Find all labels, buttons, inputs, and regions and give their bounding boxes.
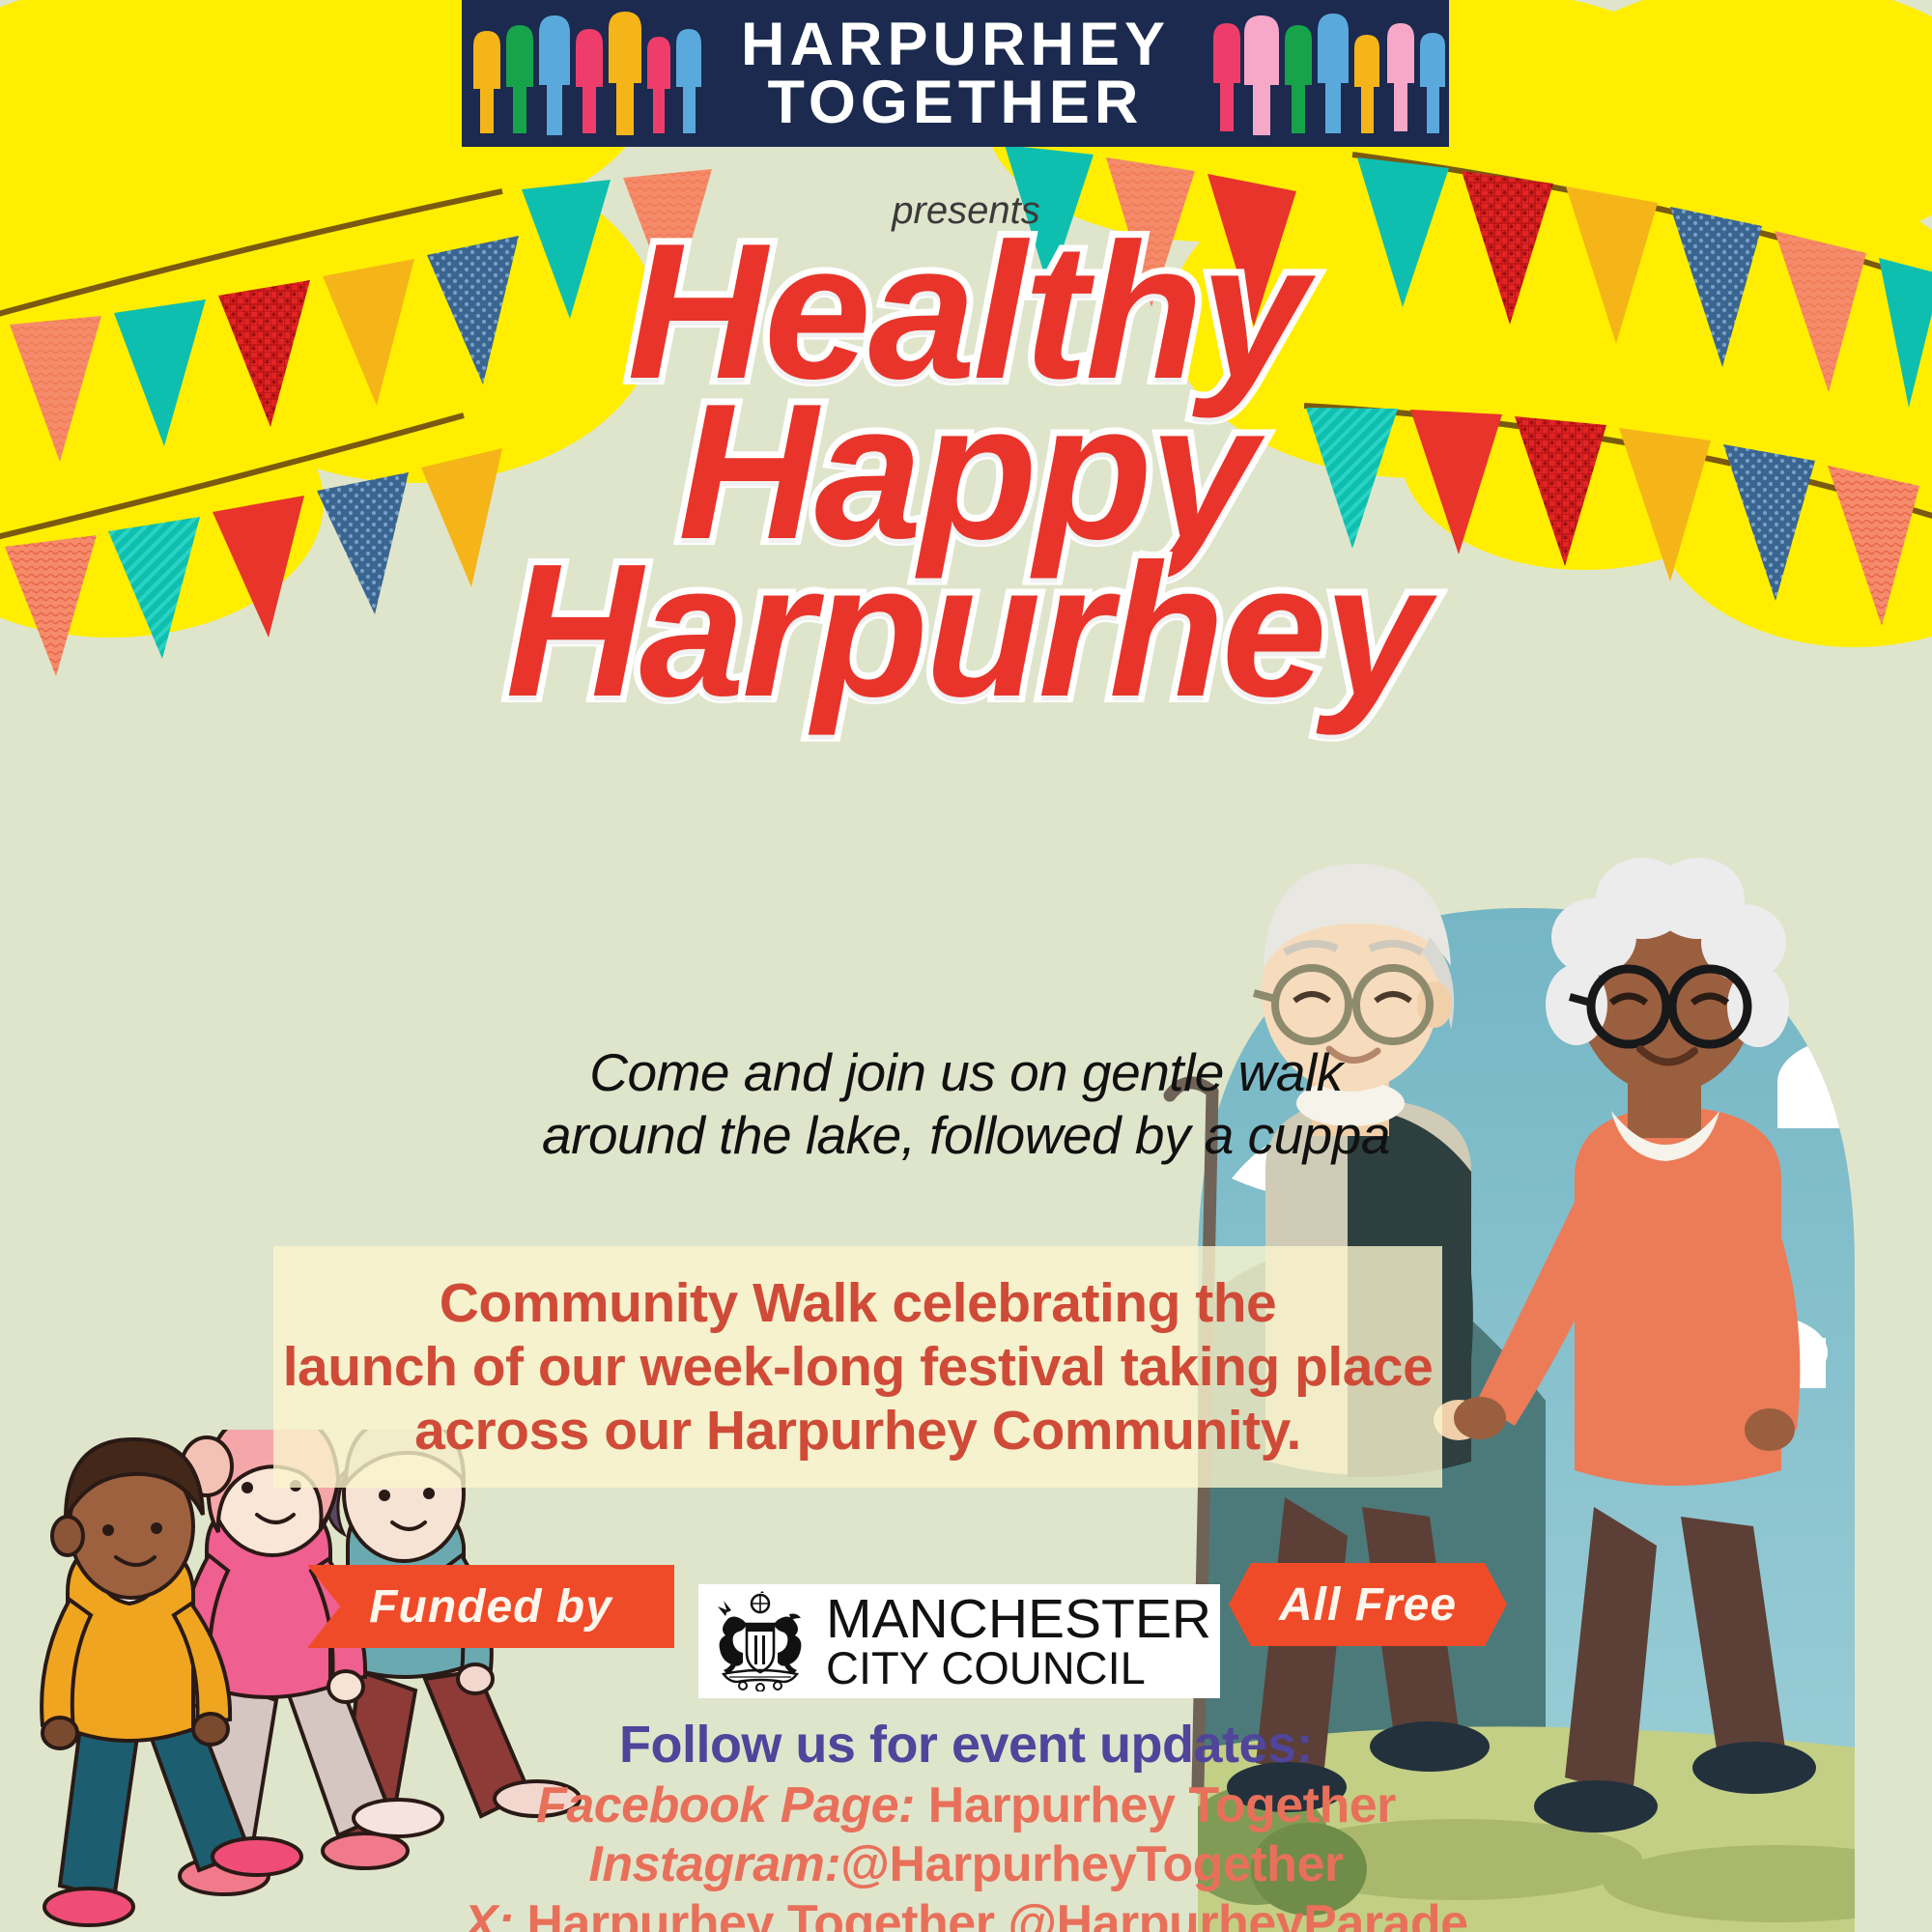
social-x[interactable]: X: Harpurhey Together @HarpurheyParade	[0, 1896, 1932, 1932]
logo-line-1: HARPURHEY	[741, 15, 1170, 73]
subtitle-line-1: Come and join us on gentle walk	[0, 1041, 1932, 1104]
description-line-3: across our Harpurhey Community.	[273, 1399, 1442, 1463]
people-group-icon	[462, 0, 703, 147]
description-line-2: launch of our week-long festival taking …	[273, 1335, 1442, 1399]
social-facebook[interactable]: Facebook Page: Harpurhey Together	[0, 1778, 1932, 1833]
all-free-label: All Free	[1279, 1578, 1457, 1632]
harpurhey-together-logo: HARPURHEY TOGETHER	[462, 0, 1449, 147]
event-subtitle: Come and join us on gentle walk around t…	[0, 1041, 1932, 1167]
manchester-city-council-logo: MANCHESTER CITY COUNCIL	[698, 1584, 1220, 1698]
logo-line-2: TOGETHER	[741, 73, 1170, 131]
social-facebook-handle: Harpurhey Together	[915, 1777, 1396, 1833]
manchester-coat-of-arms-icon	[708, 1591, 812, 1691]
follow-section: Follow us for event updates: Facebook Pa…	[0, 1715, 1932, 1932]
council-name-line-1: MANCHESTER	[826, 1593, 1211, 1646]
description-text: Community Walk celebrating the launch of…	[273, 1271, 1442, 1463]
social-x-handle: Harpurhey Together @HarpurheyParade	[513, 1895, 1467, 1932]
presents-label: presents	[0, 189, 1932, 233]
all-free-ribbon: All Free	[1229, 1563, 1507, 1646]
social-instagram-handle: @HarpurheyTogether	[840, 1836, 1343, 1892]
council-wordmark: MANCHESTER CITY COUNCIL	[826, 1593, 1211, 1690]
council-name-line-2: CITY COUNCIL	[826, 1646, 1211, 1690]
social-x-label: X:	[464, 1895, 513, 1932]
description-box: Community Walk celebrating the launch of…	[273, 1246, 1442, 1488]
description-line-1: Community Walk celebrating the	[273, 1271, 1442, 1335]
funded-by-ribbon: Funded by	[307, 1565, 674, 1648]
poster-canvas: HARPURHEY TOGETHER presents Healthy Happ…	[0, 0, 1932, 1932]
logo-wordmark: HARPURHEY TOGETHER	[741, 15, 1170, 132]
social-instagram[interactable]: Instagram:@HarpurheyTogether	[0, 1837, 1932, 1892]
follow-heading: Follow us for event updates:	[0, 1715, 1932, 1775]
social-facebook-label: Facebook Page:	[536, 1777, 915, 1833]
social-instagram-label: Instagram:	[588, 1836, 840, 1892]
people-group-icon	[1207, 0, 1449, 147]
funded-by-label: Funded by	[369, 1580, 612, 1634]
subtitle-line-2: around the lake, followed by a cuppa	[0, 1104, 1932, 1167]
